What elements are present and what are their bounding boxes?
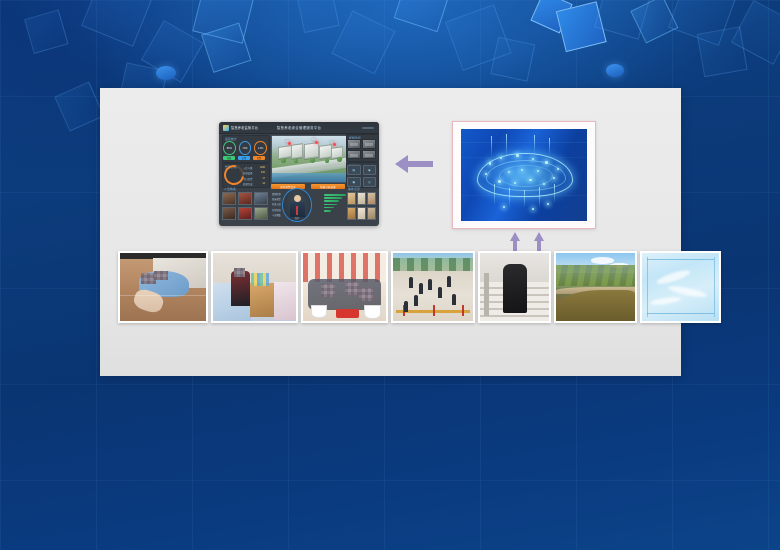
header-menu-icon xyxy=(362,127,374,129)
privacy-mosaic xyxy=(345,282,360,296)
photo-pedestrian xyxy=(447,276,451,287)
record-thumbnail[interactable] xyxy=(357,207,366,220)
photo-person xyxy=(503,264,526,313)
photo-bottles xyxy=(251,273,269,285)
gauge-online-label: 在线 xyxy=(223,156,235,160)
camera-grid[interactable] xyxy=(347,139,376,159)
event-key: 离床报警 xyxy=(272,197,281,201)
photo-post xyxy=(462,305,464,316)
panel-line xyxy=(647,313,715,314)
dashboard-title: 智慧养老综合管理服务平台 xyxy=(277,125,321,130)
record-thumbnail[interactable] xyxy=(347,192,356,205)
photo-cloud xyxy=(591,257,615,264)
map-water xyxy=(272,173,346,182)
campus-3d-map[interactable]: A区 B区 C区 xyxy=(271,135,347,183)
metric-value: 17 xyxy=(262,177,265,181)
logo-icon xyxy=(223,125,229,131)
photo-image xyxy=(393,253,473,321)
brain-node xyxy=(489,162,492,165)
map-tree xyxy=(281,158,286,163)
gauge-alarm-label: 告警 xyxy=(253,156,265,160)
brain-node xyxy=(553,177,555,179)
photo-image xyxy=(303,253,386,321)
metrics-list: 入住人数1286 在线设备532 今日告警17 处理完成14 xyxy=(243,166,265,188)
light-ray xyxy=(509,188,510,208)
left-arrow-icon xyxy=(395,155,435,173)
panel-wisp xyxy=(649,296,680,306)
decor-ellipse xyxy=(156,66,176,80)
ai-brain-image xyxy=(461,129,587,221)
privacy-mosaic xyxy=(359,288,372,300)
camera-tile[interactable] xyxy=(362,139,376,149)
face-thumbnail[interactable] xyxy=(222,192,236,205)
gauge-group: 86% 72% 14% 在线 正常 告警 xyxy=(223,136,267,158)
camera-tile[interactable] xyxy=(347,150,361,160)
map-tree xyxy=(294,159,298,163)
resident-avatar[interactable]: 住户 xyxy=(282,188,312,222)
light-ray xyxy=(534,135,535,153)
status-bar xyxy=(324,204,337,206)
privacy-mosaic xyxy=(154,271,168,281)
photo-post xyxy=(433,305,435,316)
device-icon[interactable]: ▣ xyxy=(347,177,361,187)
status-bar xyxy=(324,194,346,196)
record-thumbnail[interactable] xyxy=(347,207,356,220)
status-bar-chart xyxy=(324,194,346,213)
event-key: 跌倒检测 xyxy=(272,192,281,196)
photo-pedestrian xyxy=(428,279,432,290)
scene-photo-strip xyxy=(118,251,721,323)
device-icon[interactable]: ◎ xyxy=(363,177,377,187)
photo-pedestrian xyxy=(452,294,456,305)
metric-key: 处理完成 xyxy=(243,182,253,186)
ai-brain-module[interactable] xyxy=(452,121,596,229)
photo-image xyxy=(642,253,719,321)
light-ray xyxy=(524,190,525,208)
gauge-normal: 72% xyxy=(239,141,252,155)
record-thumbnail-grid[interactable] xyxy=(347,192,376,220)
image-streak xyxy=(461,142,587,143)
privacy-mosaic xyxy=(321,284,334,296)
metric-value: 532 xyxy=(261,171,265,175)
device-icon[interactable]: ▤ xyxy=(347,165,361,175)
dashboard-brand-label: 智慧养老监管平台 xyxy=(231,125,258,131)
map-label: B区 xyxy=(312,137,316,141)
photo-wall-banner xyxy=(303,253,386,282)
brain-node xyxy=(547,203,549,205)
gauge-normal-value: 72% xyxy=(242,147,247,150)
photo-outdoor-plaza[interactable] xyxy=(391,251,475,323)
face-thumbnail[interactable] xyxy=(254,207,268,220)
metric-key: 在线设备 xyxy=(243,171,253,175)
photo-lake xyxy=(556,290,635,321)
panel-line xyxy=(714,257,715,317)
map-building xyxy=(278,145,292,159)
light-ray xyxy=(494,184,495,206)
dashboard-brand: 智慧养老监管平台 xyxy=(223,125,258,131)
status-bar xyxy=(324,207,334,209)
status-bar xyxy=(324,200,339,202)
record-thumbnail[interactable] xyxy=(367,207,376,220)
photo-image xyxy=(213,253,296,321)
status-bar xyxy=(324,197,342,199)
metric-value: 14 xyxy=(262,182,265,186)
face-thumbnail[interactable] xyxy=(238,207,252,220)
record-thumbnail[interactable] xyxy=(367,192,376,205)
map-building xyxy=(291,143,303,159)
photo-treeline xyxy=(393,258,473,270)
map-building xyxy=(304,142,319,159)
brain-node xyxy=(529,179,532,182)
photo-pedestrian xyxy=(404,301,408,312)
avatar-caption: 住户 xyxy=(295,216,300,220)
camera-tile[interactable] xyxy=(347,139,361,149)
map-label: A区 xyxy=(285,139,289,143)
records-panel-label: 事件记录 xyxy=(348,187,360,191)
photo-bowl xyxy=(364,305,381,319)
photo-pedestrian xyxy=(438,287,442,298)
left-arrow-shaft xyxy=(407,161,433,167)
avatar-tie-icon xyxy=(296,206,298,215)
decor-ellipse xyxy=(606,64,624,77)
ai-brain-image-inner xyxy=(461,129,587,221)
avatar-head-icon xyxy=(294,195,301,202)
photo-fall-detection[interactable] xyxy=(118,251,208,323)
brain-node xyxy=(545,161,548,164)
record-thumbnail[interactable] xyxy=(357,192,366,205)
event-key: 异常徘徊 xyxy=(272,208,281,212)
panel-wisp xyxy=(655,268,691,287)
photo-foliage xyxy=(556,265,635,285)
panel-line xyxy=(647,259,715,260)
gauge-online: 86% xyxy=(223,141,236,155)
face-thumbnail[interactable] xyxy=(222,207,236,220)
photo-floor-line xyxy=(120,295,206,296)
panel-line xyxy=(647,257,648,317)
decor-square xyxy=(491,37,534,80)
device-icon[interactable]: ◉ xyxy=(363,165,377,175)
gauge-legend-row: 在线 正常 告警 xyxy=(223,156,267,160)
gauge-row: 86% 72% 14% xyxy=(223,141,267,155)
light-ray xyxy=(554,184,555,204)
photo-image xyxy=(556,253,635,321)
face-thumbnail[interactable] xyxy=(254,192,268,205)
metric-key: 入住人数 xyxy=(243,166,253,170)
photo-bowl xyxy=(311,305,326,318)
event-key: 区域入侵 xyxy=(272,202,281,206)
brain-node xyxy=(498,180,501,183)
faces-panel-label: 人员档案 xyxy=(224,187,236,191)
device-icon-grid[interactable]: ▤ ◉ ▣ ◎ xyxy=(347,165,376,187)
face-thumbnail-grid[interactable] xyxy=(222,192,268,220)
photo-image xyxy=(480,253,549,321)
metric-key: 今日告警 xyxy=(243,177,253,181)
photo-pedestrian xyxy=(409,277,413,288)
analysis-result-button[interactable]: 智能分析结果 xyxy=(311,184,345,189)
photo-tray xyxy=(336,309,359,319)
metric-row: 入住人数1286 xyxy=(243,166,265,170)
face-thumbnail[interactable] xyxy=(238,192,252,205)
map-label: C区 xyxy=(330,140,334,144)
photo-image xyxy=(120,253,206,321)
camera-tile[interactable] xyxy=(362,150,376,160)
content-card: 智慧养老监管平台 智慧养老综合管理服务平台 运营统计 86% 72% 14% 在… xyxy=(100,88,681,376)
brain-node xyxy=(557,168,559,170)
photo-pedestrian xyxy=(414,295,418,306)
brain-node xyxy=(532,208,534,210)
status-bar xyxy=(324,210,331,212)
photo-activity-room[interactable] xyxy=(301,251,388,323)
brain-node xyxy=(500,157,502,159)
brain-node xyxy=(503,206,505,208)
privacy-mosaic xyxy=(234,268,245,277)
monitoring-dashboard[interactable]: 智慧养老监管平台 智慧养老综合管理服务平台 运营统计 86% 72% 14% 在… xyxy=(219,122,379,226)
brain-node xyxy=(532,158,534,160)
light-ray xyxy=(491,136,492,156)
gauge-normal-label: 正常 xyxy=(238,156,250,160)
screenshot-stage: 智慧养老监管平台 智慧养老综合管理服务平台 运营统计 86% 72% 14% 在… xyxy=(0,0,780,550)
photo-staircase[interactable] xyxy=(478,251,551,323)
metric-row: 今日告警17 xyxy=(243,177,265,181)
metric-row: 处理完成14 xyxy=(243,182,265,186)
photo-park-lake[interactable] xyxy=(554,251,637,323)
photo-bed-right xyxy=(274,282,296,320)
gauge-alarm: 14% xyxy=(254,141,267,155)
photo-pedestrian xyxy=(419,283,423,294)
metric-row: 在线设备532 xyxy=(243,171,265,175)
light-ray xyxy=(549,138,550,155)
gauge-alarm-value: 14% xyxy=(258,147,263,150)
photo-bedroom-monitoring[interactable] xyxy=(211,251,298,323)
gauge-online-value: 86% xyxy=(227,147,232,150)
light-ray xyxy=(539,187,540,209)
photo-abstract-panel[interactable] xyxy=(640,251,721,323)
event-key: 人员聚集 xyxy=(272,213,281,217)
photo-handrail xyxy=(484,273,489,315)
dashboard-header: 智慧养老监管平台 智慧养老综合管理服务平台 xyxy=(219,122,379,134)
map-building xyxy=(319,144,332,159)
decor-square xyxy=(297,0,337,31)
metric-value: 1286 xyxy=(260,166,265,170)
